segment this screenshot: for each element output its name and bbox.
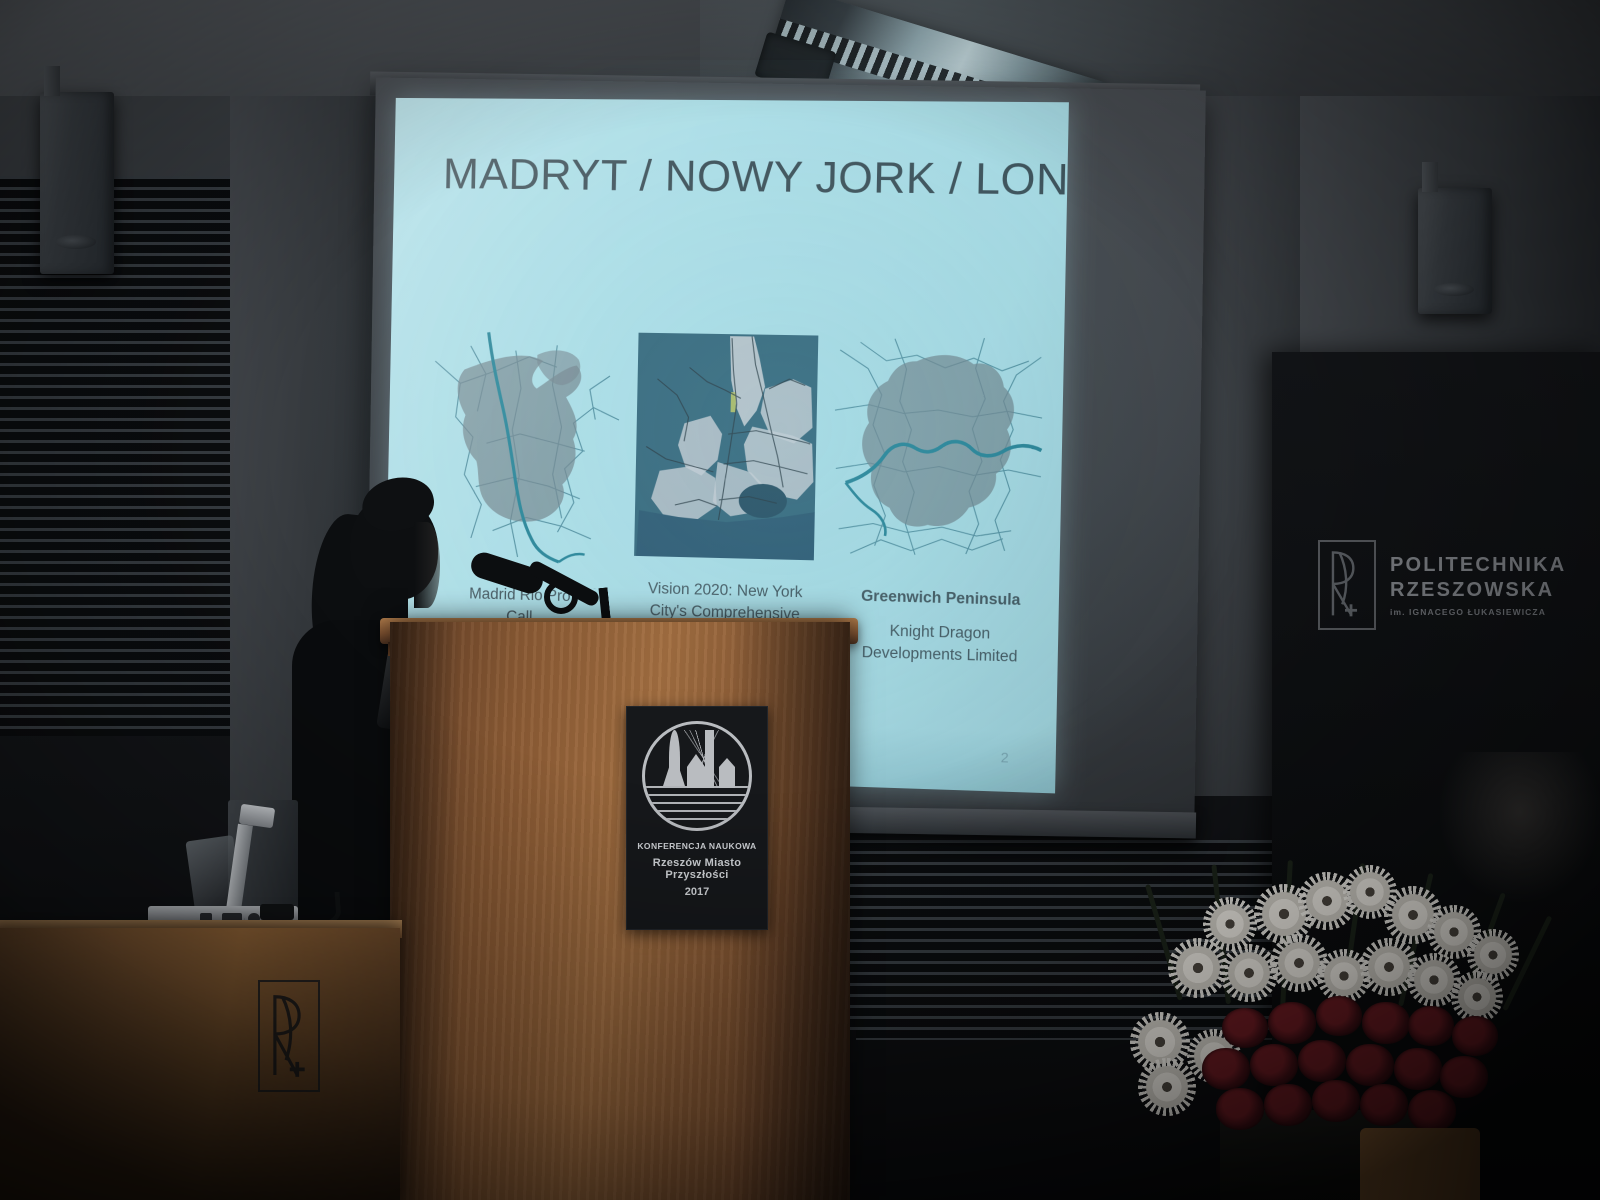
daisy-center <box>1278 942 1320 984</box>
carnation-flower <box>1452 1016 1498 1056</box>
banner-line-2: RZESZOWSKA <box>1390 579 1566 602</box>
daisy-center <box>1368 946 1410 988</box>
podium <box>390 622 850 1200</box>
wall-speaker-right <box>1418 188 1492 314</box>
new-york-harbor-map-icon <box>630 329 822 565</box>
carnation-flower <box>1316 996 1362 1036</box>
carnation-flower <box>1312 1080 1360 1122</box>
daisy-flower <box>1474 936 1512 974</box>
conference-sign: KONFERENCJA NAUKOWA Rzeszów Miasto Przys… <box>626 706 768 930</box>
carnation-flower <box>1346 1044 1394 1086</box>
speaker-bracket-icon <box>44 66 60 96</box>
daisy-center <box>1176 946 1220 990</box>
slide-title: MADRYT / NOWY JORK / LONDYN <box>442 150 1043 206</box>
floral-arrangement <box>1110 860 1560 1200</box>
banner-line-1: POLITECHNIKA <box>1390 554 1566 577</box>
prz-monogram-icon <box>258 980 320 1092</box>
caption-london-line-1: Greenwich Peninsula <box>833 585 1049 613</box>
carnation-flower <box>1394 1048 1442 1090</box>
carnation-flower <box>1440 1056 1488 1098</box>
carnation-flower <box>1298 1040 1346 1082</box>
banner-wordmark: POLITECHNIKA RZESZOWSKA im. IGNACEGO ŁUK… <box>1390 554 1566 617</box>
daisy-flower <box>1350 872 1390 912</box>
presenter-face-rim-light <box>414 522 440 608</box>
daisy-center <box>1228 952 1270 994</box>
daisy-flower <box>1306 880 1348 922</box>
photograph-scene: MADRYT / NOWY JORK / LONDYN <box>0 0 1600 1200</box>
daisy-flower <box>1146 1066 1188 1108</box>
daisy-center <box>1306 880 1348 922</box>
speaker-bracket-icon <box>1422 162 1438 192</box>
daisy-center <box>1138 1020 1182 1064</box>
daisy-flower <box>1210 904 1250 944</box>
conference-sign-line-2: Rzeszów Miasto Przyszłości <box>631 857 763 881</box>
slide-map-row <box>386 325 1064 589</box>
daisy-center <box>1350 872 1390 912</box>
speaker-cone-icon <box>56 235 96 248</box>
desk-shadow <box>0 928 400 1200</box>
lectern-desk <box>0 928 400 1200</box>
speaker-cone-icon <box>1434 283 1474 296</box>
daisy-center <box>1414 960 1454 1000</box>
carnation-flower <box>1268 1002 1316 1044</box>
carnation-flower <box>1250 1044 1298 1086</box>
banner-content: POLITECHNIKA RZESZOWSKA im. IGNACEGO ŁUK… <box>1318 530 1578 640</box>
daisy-center <box>1458 978 1496 1016</box>
conference-sign-text: KONFERENCJA NAUKOWA Rzeszów Miasto Przys… <box>631 841 763 898</box>
carnation-flower <box>1408 1090 1456 1132</box>
daisy-center <box>1210 904 1250 944</box>
sign-water-lines <box>645 786 749 820</box>
daisy-center <box>1474 936 1512 974</box>
daisy-center <box>1324 956 1364 996</box>
chair-backrest <box>1360 1128 1480 1200</box>
daisy-flower <box>1176 946 1220 990</box>
carnation-flower <box>1362 1002 1410 1044</box>
carnation-flower <box>1202 1048 1250 1090</box>
daisy-flower <box>1138 1020 1182 1064</box>
caption-london-line-3: Developments Limited <box>832 641 1048 669</box>
daisy-flower <box>1458 978 1496 1016</box>
london-metro-area-map-icon <box>830 332 1048 568</box>
banner-line-3: im. IGNACEGO ŁUKASIEWICZA <box>1390 607 1566 617</box>
daisy-flower <box>1278 942 1320 984</box>
daisy-center <box>1146 1066 1188 1108</box>
carnation-flower <box>1264 1084 1312 1126</box>
carnation-flower <box>1216 1088 1264 1130</box>
prz-monogram-icon <box>1318 540 1376 630</box>
slide-page-number: 2 <box>1001 749 1009 765</box>
carnation-flower <box>1222 1008 1268 1048</box>
rzeszow-bridge-skyline-icon <box>642 721 752 831</box>
carnation-flower <box>1408 1006 1454 1046</box>
acoustic-slat-panel-left <box>0 176 232 736</box>
wall-speaker-left <box>40 92 114 274</box>
podium-wood-grain <box>390 622 850 1200</box>
document-camera-visualizer-icon <box>148 808 318 928</box>
daisy-flower <box>1368 946 1410 988</box>
daisy-flower <box>1324 956 1364 996</box>
podium-left-shadow <box>390 622 460 1200</box>
daisy-flower <box>1228 952 1270 994</box>
caption-london: Greenwich Peninsula Knight Dragon Develo… <box>832 585 1049 670</box>
daisy-flower <box>1414 960 1454 1000</box>
conference-sign-line-3: 2017 <box>631 886 763 898</box>
carnation-flower <box>1360 1084 1408 1126</box>
conference-sign-line-1: KONFERENCJA NAUKOWA <box>631 841 763 851</box>
